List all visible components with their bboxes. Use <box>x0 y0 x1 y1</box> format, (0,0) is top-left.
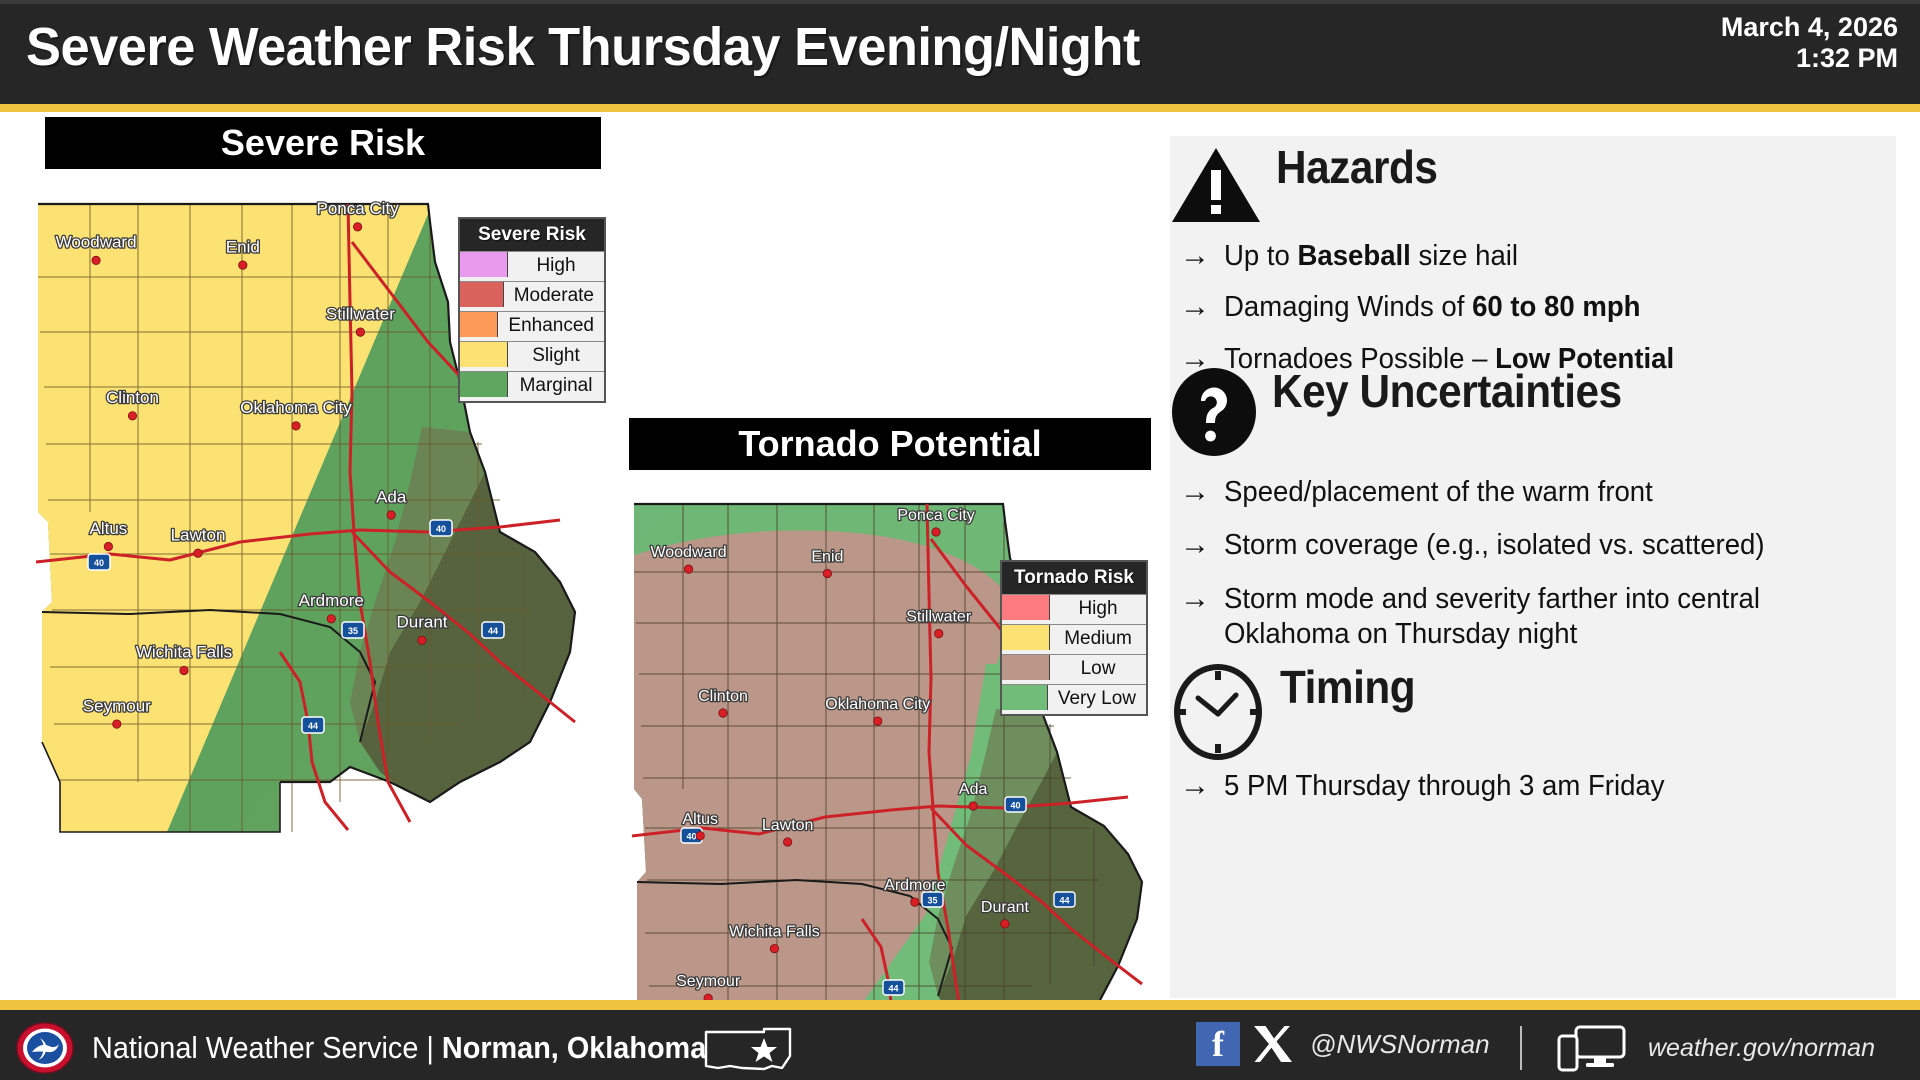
city-label: Wichita Falls <box>729 924 820 941</box>
city-marker-dot <box>387 511 395 519</box>
city-label: Enid <box>226 237 260 256</box>
city-marker-dot <box>684 565 692 573</box>
legend-color-swatch <box>460 312 498 337</box>
timing-bullet-list: →5 PM Thursday through 3 am Friday <box>1170 769 1896 804</box>
city-label: Ponca City <box>316 199 399 218</box>
page-title: Severe Weather Risk Thursday Evening/Nig… <box>26 16 1140 78</box>
bullet-text: Speed/placement of the warm front <box>1224 475 1862 510</box>
devices-icon <box>1556 1024 1628 1072</box>
key-uncertainties-bullet-list: →Speed/placement of the warm front→Storm… <box>1170 475 1896 653</box>
accent-divider-bottom <box>0 1000 1920 1010</box>
footer-bar: National Weather Service | Norman, Oklah… <box>0 1010 1920 1080</box>
legend-row: Enhanced <box>460 311 604 341</box>
legend-color-swatch <box>1002 685 1048 710</box>
city-label: Ada <box>376 487 407 506</box>
warning-triangle-icon <box>1170 144 1262 229</box>
legend-color-swatch <box>460 342 508 367</box>
bullet-item: →Damaging Winds of 60 to 80 mph <box>1170 290 1896 325</box>
header-date: March 4, 2026 <box>1721 12 1898 43</box>
city-label: Stillwater <box>906 609 972 626</box>
legend-row: Low <box>1002 654 1146 684</box>
city-label: Ada <box>959 781 988 798</box>
city-marker-dot <box>770 944 778 952</box>
city-label: Oklahoma City <box>240 398 352 417</box>
bullet-item: →Storm coverage (e.g., isolated vs. scat… <box>1170 528 1896 563</box>
legend-row: Very Low <box>1002 684 1146 714</box>
city-label: Ardmore <box>299 591 364 610</box>
arrow-icon: → <box>1170 769 1224 804</box>
hazards-bullet-list: →Up to Baseball size hail→Damaging Winds… <box>1170 239 1896 377</box>
bullet-item: →Storm mode and severity farther into ce… <box>1170 582 1896 653</box>
legend-row: High <box>1002 594 1146 624</box>
bullet-text: 5 PM Thursday through 3 am Friday <box>1224 769 1862 804</box>
oklahoma-outline-icon <box>702 1026 794 1072</box>
header-datetime: March 4, 2026 1:32 PM <box>1721 12 1898 74</box>
severe-risk-legend-title: Severe Risk <box>460 219 604 251</box>
key-uncertainties-section: Key Uncertainties →Speed/placement of th… <box>1170 368 1896 671</box>
legend-color-swatch <box>460 282 504 307</box>
footer-office-name: Norman, Oklahoma <box>442 1030 706 1065</box>
legend-color-swatch <box>460 372 508 397</box>
city-marker-dot <box>1001 920 1009 928</box>
arrow-icon: → <box>1170 239 1224 274</box>
severe-risk-legend: Severe Risk HighModerateEnhancedSlightMa… <box>458 217 606 403</box>
content-stage: Severe Risk <box>0 112 1920 1000</box>
city-marker-dot <box>180 666 188 674</box>
timing-title: Timing <box>1280 664 1415 710</box>
city-marker-dot <box>92 256 100 264</box>
legend-row: Medium <box>1002 624 1146 654</box>
bullet-text: Storm coverage (e.g., isolated vs. scatt… <box>1224 528 1862 563</box>
severe-risk-map-title: Severe Risk <box>42 114 604 172</box>
legend-color-swatch <box>460 252 508 277</box>
city-label: Durant <box>981 899 1030 916</box>
city-marker-dot <box>194 549 202 557</box>
header-time: 1:32 PM <box>1721 43 1898 74</box>
arrow-icon: → <box>1170 475 1224 510</box>
city-label: Enid <box>811 549 843 566</box>
city-marker-dot <box>292 422 300 430</box>
legend-label: Slight <box>508 342 604 371</box>
bullet-text: Up to Baseball size hail <box>1224 239 1862 274</box>
city-label: Altus <box>682 811 718 828</box>
legend-label: High <box>508 252 604 281</box>
legend-label: Low <box>1050 655 1146 684</box>
legend-label: Marginal <box>508 372 604 401</box>
social-handle[interactable]: @NWSNorman <box>1310 1029 1490 1060</box>
city-label: Durant <box>396 613 447 632</box>
city-marker-dot <box>696 832 704 840</box>
city-marker-dot <box>356 328 364 336</box>
city-label: Lawton <box>762 817 814 834</box>
hazards-section: Hazards →Up to Baseball size hail→Damagi… <box>1170 144 1896 393</box>
city-label: Stillwater <box>326 304 395 323</box>
timing-section: Timing →5 PM Thursday through 3 am Frida… <box>1170 664 1896 820</box>
city-label: Seymour <box>83 696 151 715</box>
legend-label: Medium <box>1050 625 1146 654</box>
tornado-risk-legend: Tornado Risk HighMediumLowVery Low <box>1000 560 1148 716</box>
legend-label: Very Low <box>1048 685 1146 714</box>
footer-website-url[interactable]: weather.gov/norman <box>1648 1034 1875 1063</box>
legend-label: High <box>1050 595 1146 624</box>
header-bar: Severe Weather Risk Thursday Evening/Nig… <box>0 0 1920 104</box>
footer-divider <box>1520 1026 1522 1070</box>
bullet-text: Storm mode and severity farther into cen… <box>1224 582 1862 653</box>
city-label: Seymour <box>676 973 741 990</box>
bullet-text: Damaging Winds of 60 to 80 mph <box>1224 290 1862 325</box>
city-marker-dot <box>935 629 943 637</box>
footer-agency-name: National Weather Service | <box>92 1030 442 1065</box>
legend-color-swatch <box>1002 595 1050 620</box>
city-label: Clinton <box>106 388 159 407</box>
city-label: Ardmore <box>884 877 945 894</box>
tornado-risk-legend-title: Tornado Risk <box>1002 562 1146 594</box>
legend-row: High <box>460 251 604 281</box>
nws-seal-logo <box>14 1022 76 1074</box>
legend-label: Moderate <box>504 282 604 311</box>
tornado-potential-map-title-text: Tornado Potential <box>738 423 1041 465</box>
arrow-icon: → <box>1170 528 1224 563</box>
x-twitter-icon[interactable] <box>1250 1022 1296 1066</box>
legend-row: Moderate <box>460 281 604 311</box>
legend-color-swatch <box>1002 655 1050 680</box>
info-panel: Hazards →Up to Baseball size hail→Damagi… <box>1170 136 1896 998</box>
bullet-item: →Up to Baseball size hail <box>1170 239 1896 274</box>
question-mark-icon <box>1170 368 1258 461</box>
city-marker-dot <box>969 802 977 810</box>
social-links-group[interactable]: f @NWSNorman <box>1196 1022 1490 1066</box>
city-label: Wichita Falls <box>136 643 232 662</box>
arrow-icon: → <box>1170 290 1224 325</box>
legend-color-swatch <box>1002 625 1050 650</box>
bullet-item: →5 PM Thursday through 3 am Friday <box>1170 769 1896 804</box>
legend-row: Slight <box>460 341 604 371</box>
city-marker-dot <box>823 569 831 577</box>
severe-risk-map-title-text: Severe Risk <box>221 122 425 164</box>
city-marker-dot <box>327 615 335 623</box>
city-marker-dot <box>932 528 940 536</box>
city-label: Woodward <box>56 233 137 252</box>
tornado-potential-map-title: Tornado Potential <box>626 415 1154 473</box>
city-label: Lawton <box>171 525 226 544</box>
accent-divider-top <box>0 104 1920 112</box>
city-marker-dot <box>113 720 121 728</box>
city-marker-dot <box>128 412 136 420</box>
arrow-icon: → <box>1170 582 1224 617</box>
bullet-item: →Speed/placement of the warm front <box>1170 475 1896 510</box>
city-label: Altus <box>90 519 128 538</box>
city-marker-dot <box>783 838 791 846</box>
city-marker-dot <box>719 709 727 717</box>
city-label: Ponca City <box>897 507 974 524</box>
clock-icon <box>1170 664 1266 765</box>
city-marker-dot <box>874 717 882 725</box>
legend-label: Enhanced <box>498 312 604 341</box>
city-label: Clinton <box>698 688 748 705</box>
key-uncertainties-title: Key Uncertainties <box>1272 368 1622 414</box>
city-marker-dot <box>104 542 112 550</box>
facebook-icon[interactable]: f <box>1196 1022 1240 1066</box>
city-label: Oklahoma City <box>825 696 930 713</box>
hazards-title: Hazards <box>1276 144 1437 190</box>
city-marker-dot <box>353 223 361 231</box>
city-marker-dot <box>418 636 426 644</box>
city-marker-dot <box>239 261 247 269</box>
footer-agency-text: National Weather Service | Norman, Oklah… <box>92 1030 706 1066</box>
city-label: Woodward <box>650 544 726 561</box>
city-marker-dot <box>911 898 919 906</box>
legend-row: Marginal <box>460 371 604 401</box>
